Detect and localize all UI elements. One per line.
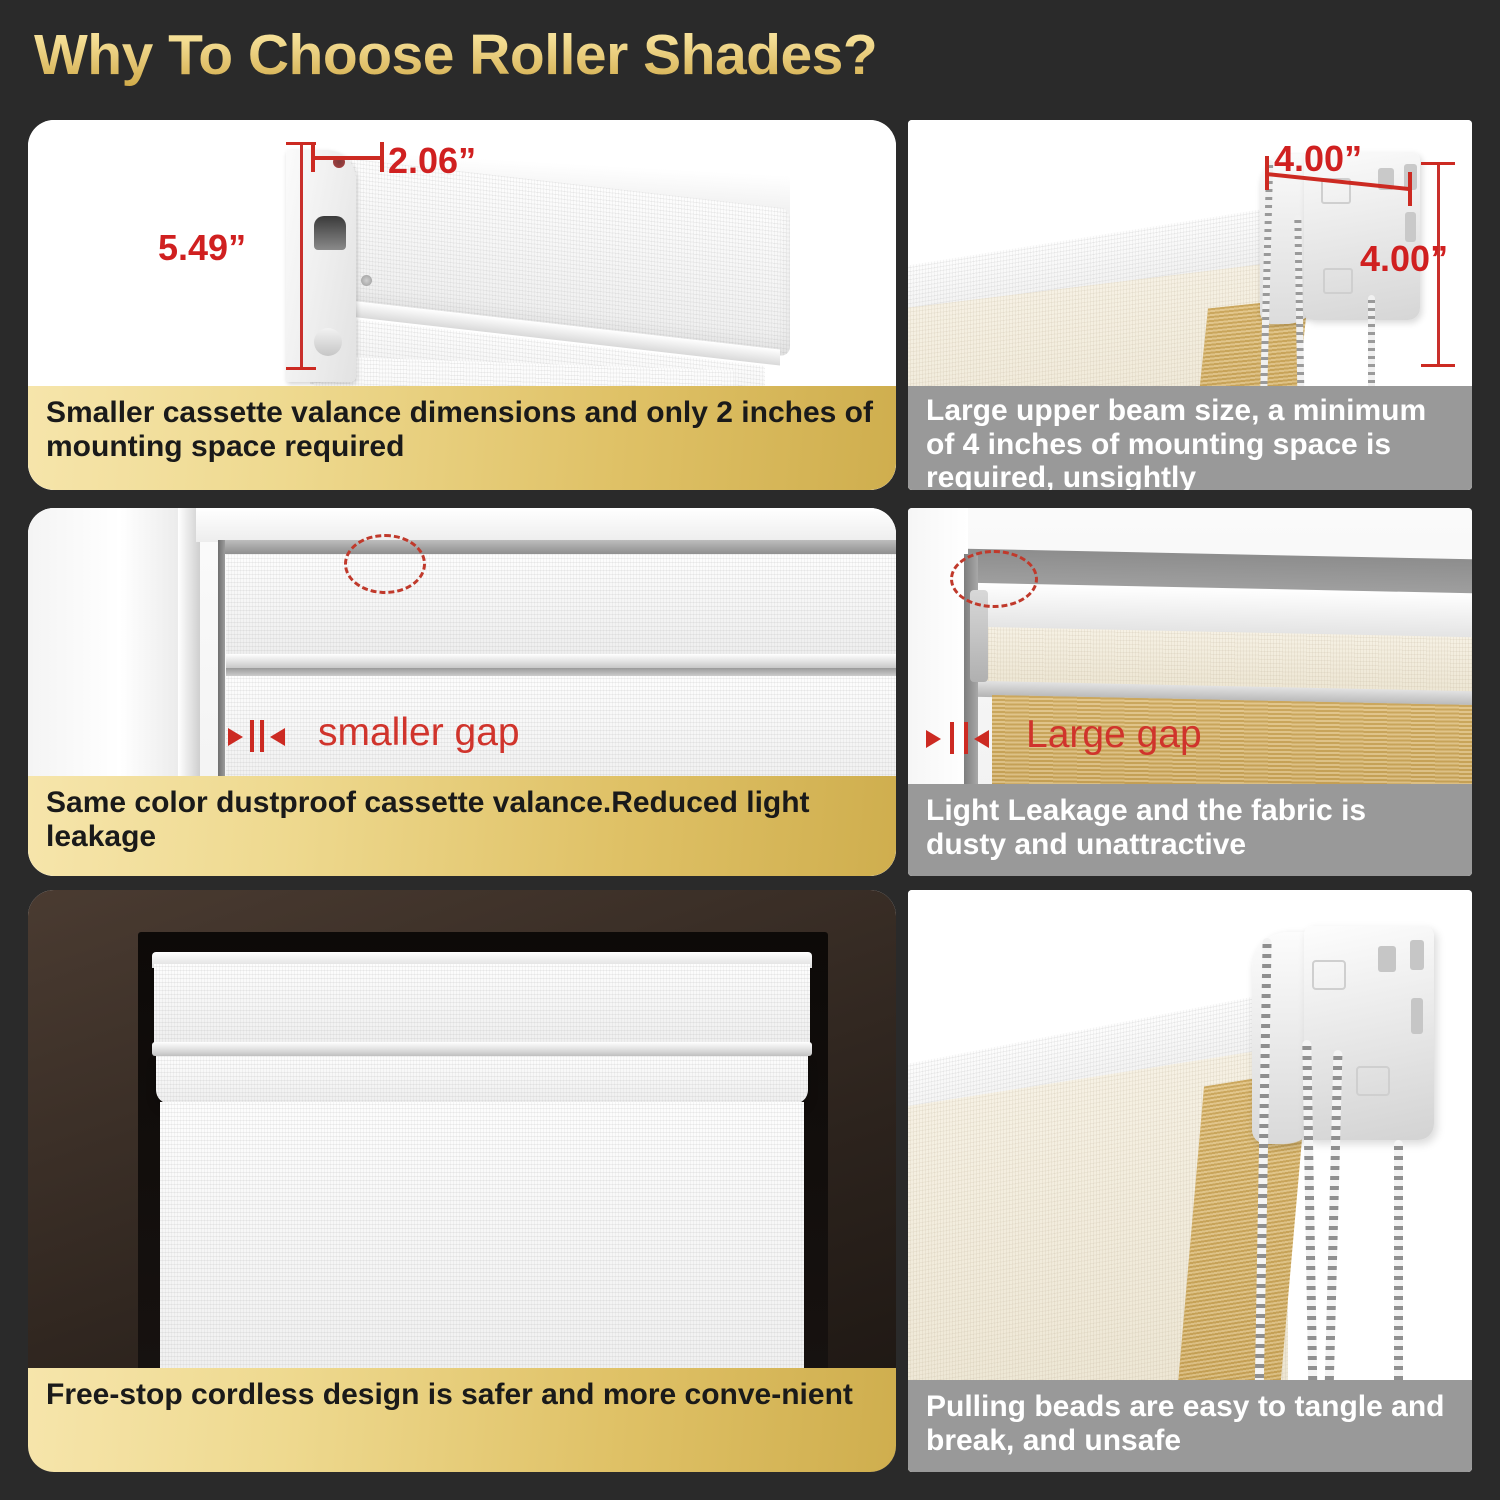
highlight-circle-mid-left: [344, 534, 426, 594]
dim-line-top-left-height: [300, 142, 303, 370]
dim-label-height: 5.49”: [158, 227, 246, 269]
dim-line-top-left-width: [311, 156, 383, 160]
gap-arrow-right-icon: [926, 730, 941, 748]
caption-bottom-left: Free-stop cordless design is safer and m…: [28, 1368, 896, 1472]
panel-mid-left: smaller gap Same color dustproof cassett…: [28, 508, 896, 876]
caption-top-left: Smaller cassette valance dimensions and …: [28, 386, 896, 490]
dim-cap-tr-top: [1421, 162, 1455, 165]
highlight-circle-mid-right: [950, 550, 1038, 608]
panel-bottom-right: Pulling beads are easy to tangle and bre…: [908, 890, 1472, 1472]
caption-bottom-right: Pulling beads are easy to tangle and bre…: [908, 1380, 1472, 1472]
dim-cap-bottom: [286, 367, 316, 370]
gap-label-mid-right: Large gap: [1026, 713, 1202, 757]
dim-label-width: 2.06”: [388, 140, 476, 182]
dim-label-tr-height: 4.00”: [1360, 238, 1448, 280]
gap-arrow-right-icon: [228, 728, 243, 746]
caption-mid-left: Same color dustproof cassette valance.Re…: [28, 776, 896, 876]
panel-bottom-left: Free-stop cordless design is safer and m…: [28, 890, 896, 1472]
panel-top-right: 4.00” 4.00” Large upper beam size, a min…: [908, 120, 1472, 490]
panel-mid-right: Large gap Light Leakage and the fabric i…: [908, 508, 1472, 876]
dim-cap-top: [286, 142, 316, 145]
dim-label-tr-width: 4.00”: [1274, 138, 1362, 180]
gap-arrow-left-icon: [974, 730, 989, 748]
dim-cap-tr-bot: [1421, 364, 1455, 367]
caption-mid-right: Light Leakage and the fabric is dusty an…: [908, 784, 1472, 876]
page-title: Why To Choose Roller Shades?: [34, 22, 877, 88]
panel-top-left: 2.06” 5.49” Smaller cassette valance dim…: [28, 120, 896, 490]
infographic-root: Why To Choose Roller Shades? 2.06”: [0, 0, 1500, 1500]
gap-arrow-left-icon: [270, 728, 285, 746]
gap-label-mid-left: smaller gap: [318, 711, 520, 755]
caption-top-right: Large upper beam size, a minimum of 4 in…: [908, 386, 1472, 490]
